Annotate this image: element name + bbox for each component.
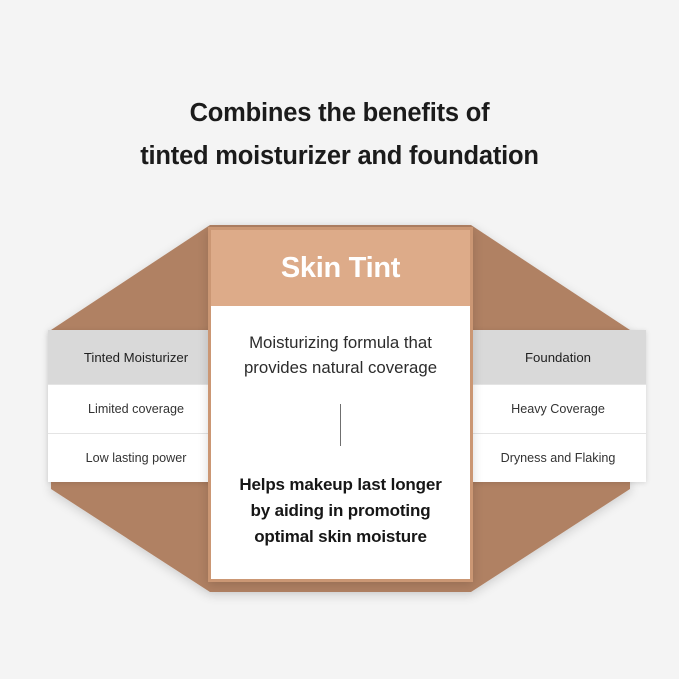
diagram-canvas: Combines the benefits of tinted moisturi… — [0, 0, 679, 679]
skin-tint-benefit: Helps makeup last longer by aiding in pr… — [239, 472, 441, 550]
card-body-skin-tint: Moisturizing formula that provides natur… — [211, 306, 470, 579]
card-header-skin-tint: Skin Tint — [211, 230, 470, 306]
card-tinted-moisturizer: Tinted Moisturizer Limited coverage Low … — [48, 330, 224, 482]
list-item: Heavy Coverage — [470, 384, 646, 433]
list-item: Limited coverage — [48, 384, 224, 433]
card-skin-tint: Skin Tint Moisturizing formula that prov… — [208, 227, 473, 582]
skin-tint-benefit-line-2: by aiding in promoting — [251, 501, 431, 520]
card-header-tinted-moisturizer: Tinted Moisturizer — [48, 330, 224, 384]
list-item: Low lasting power — [48, 433, 224, 482]
skin-tint-description-line-1: Moisturizing formula that — [249, 333, 432, 352]
card-header-foundation: Foundation — [470, 330, 646, 384]
skin-tint-description: Moisturizing formula that provides natur… — [244, 330, 437, 380]
vertical-divider — [340, 404, 341, 446]
skin-tint-description-line-2: provides natural coverage — [244, 358, 437, 377]
card-foundation: Foundation Heavy Coverage Dryness and Fl… — [470, 330, 646, 482]
skin-tint-benefit-line-3: optimal skin moisture — [254, 527, 427, 546]
skin-tint-benefit-line-1: Helps makeup last longer — [239, 475, 441, 494]
list-item: Dryness and Flaking — [470, 433, 646, 482]
